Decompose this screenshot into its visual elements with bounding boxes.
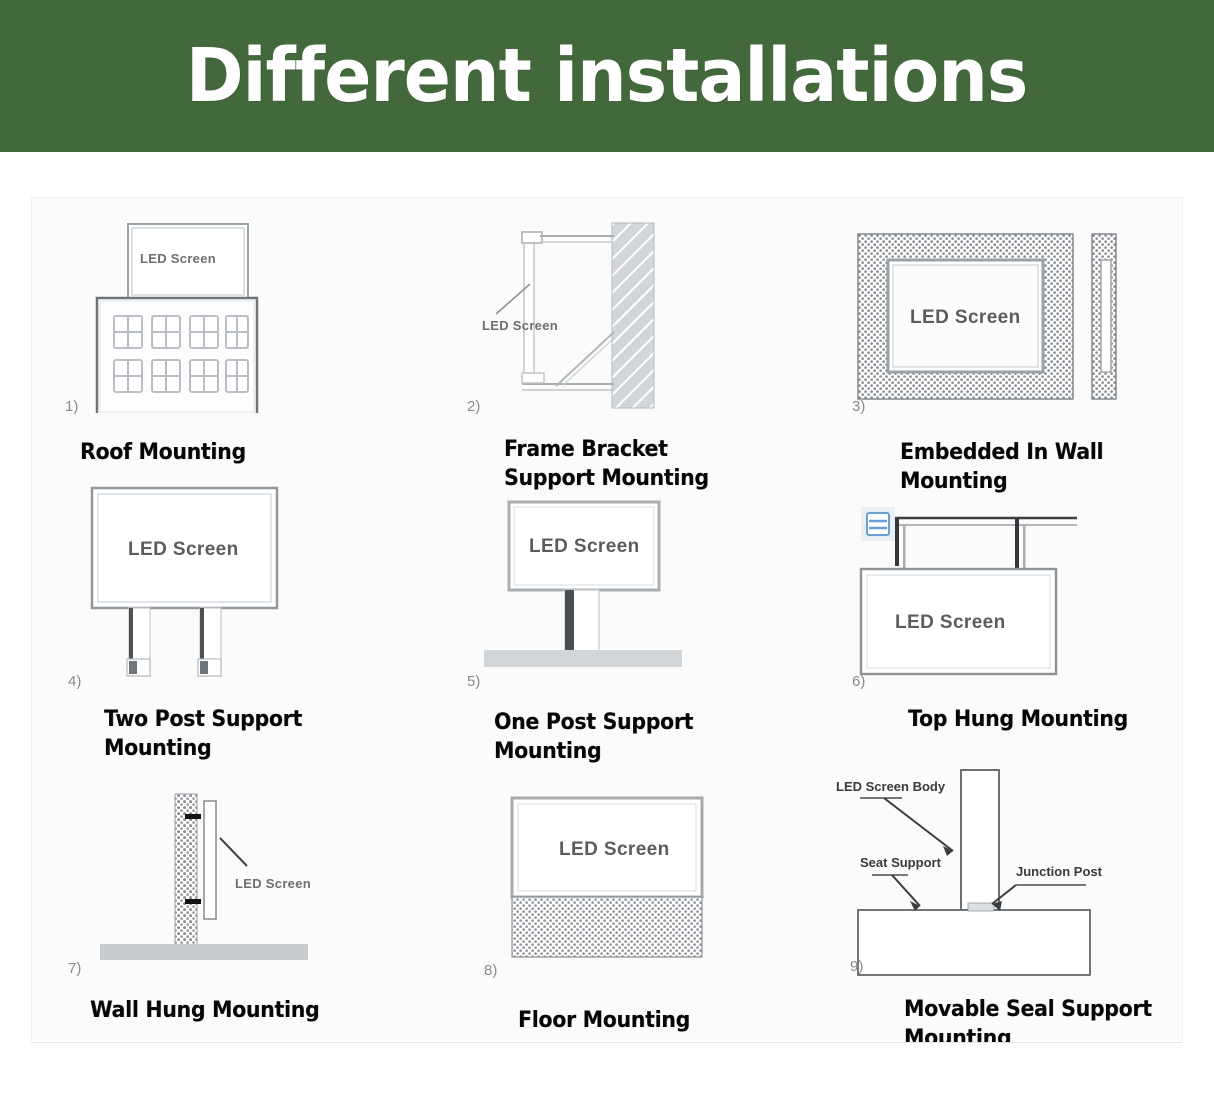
roof-mounting-diagram: LED Screen — [62, 218, 292, 413]
annotation-seat-support: Seat Support — [860, 855, 942, 870]
item-index-3: 3) — [852, 398, 865, 415]
installation-item-4: LED Screen 4) Two Post Support Mounting — [32, 473, 422, 758]
header-banner: Different installations — [0, 0, 1214, 152]
bottom-strip — [0, 1043, 1214, 1101]
installation-item-6: LED Screen 6) Top Hung Mounting — [812, 473, 1182, 758]
two-post-support-diagram: LED Screen — [72, 483, 292, 683]
item-index-6: 6) — [852, 673, 865, 690]
item-index-1: 1) — [65, 398, 78, 415]
item-index-4: 4) — [68, 673, 81, 690]
item-caption-8: Floor Mounting — [518, 1006, 690, 1035]
page-title: Different installations — [186, 39, 1028, 113]
annotation-led-screen-body: LED Screen Body — [836, 779, 946, 794]
item-index-2: 2) — [467, 398, 480, 415]
frame-bracket-diagram: LED Screen — [482, 218, 722, 413]
item-caption-7: Wall Hung Mounting — [90, 996, 319, 1025]
installation-item-7: LED Screen 7) Wall Hung Mounting — [32, 758, 422, 1043]
screen-label-6: LED Screen — [895, 612, 1006, 633]
item-index-9: 9) — [850, 958, 863, 975]
screen-label-8: LED Screen — [559, 839, 670, 860]
screen-label-2: LED Screen — [482, 318, 558, 333]
screen-label-4: LED Screen — [128, 539, 239, 560]
item-caption-4: Two Post Support Mounting — [104, 705, 302, 763]
broken-image-icon — [861, 507, 895, 541]
screen-label-7: LED Screen — [235, 876, 311, 891]
diagram-grid-panel: LED Screen 1) Roof Mounting — [32, 198, 1182, 1043]
top-hung-diagram: LED Screen — [847, 501, 1127, 681]
item-caption-6: Top Hung Mounting — [908, 705, 1128, 734]
screen-label-1: LED Screen — [140, 251, 216, 266]
annotation-junction-post: Junction Post — [1016, 864, 1103, 879]
installation-item-3: LED Screen 3) Embedded In Wall Mounting — [812, 198, 1182, 473]
one-post-support-diagram: LED Screen — [467, 498, 707, 678]
item-index-7: 7) — [68, 960, 81, 977]
item-index-5: 5) — [467, 673, 480, 690]
floor-mounting-diagram: LED Screen — [507, 793, 727, 968]
item-index-8: 8) — [484, 962, 497, 979]
item-caption-1: Roof Mounting — [80, 438, 246, 467]
screen-label-5: LED Screen — [529, 536, 640, 557]
installation-item-1: LED Screen 1) Roof Mounting — [32, 198, 422, 473]
installation-item-9: LED Screen Body Seat Support Junction Po… — [812, 758, 1182, 1043]
installation-item-8: LED Screen 8) Floor Mounting — [422, 758, 812, 1043]
installation-item-2: LED Screen 2) Frame Bracket Support Moun… — [422, 198, 812, 473]
installation-item-5: LED Screen 5) One Post Support Mounting — [422, 473, 812, 758]
movable-seal-support-diagram: LED Screen Body Seat Support Junction Po… — [820, 758, 1140, 998]
screen-label-3: LED Screen — [910, 307, 1021, 328]
wall-hung-diagram: LED Screen — [87, 788, 347, 968]
embedded-wall-diagram: LED Screen — [852, 228, 1142, 408]
